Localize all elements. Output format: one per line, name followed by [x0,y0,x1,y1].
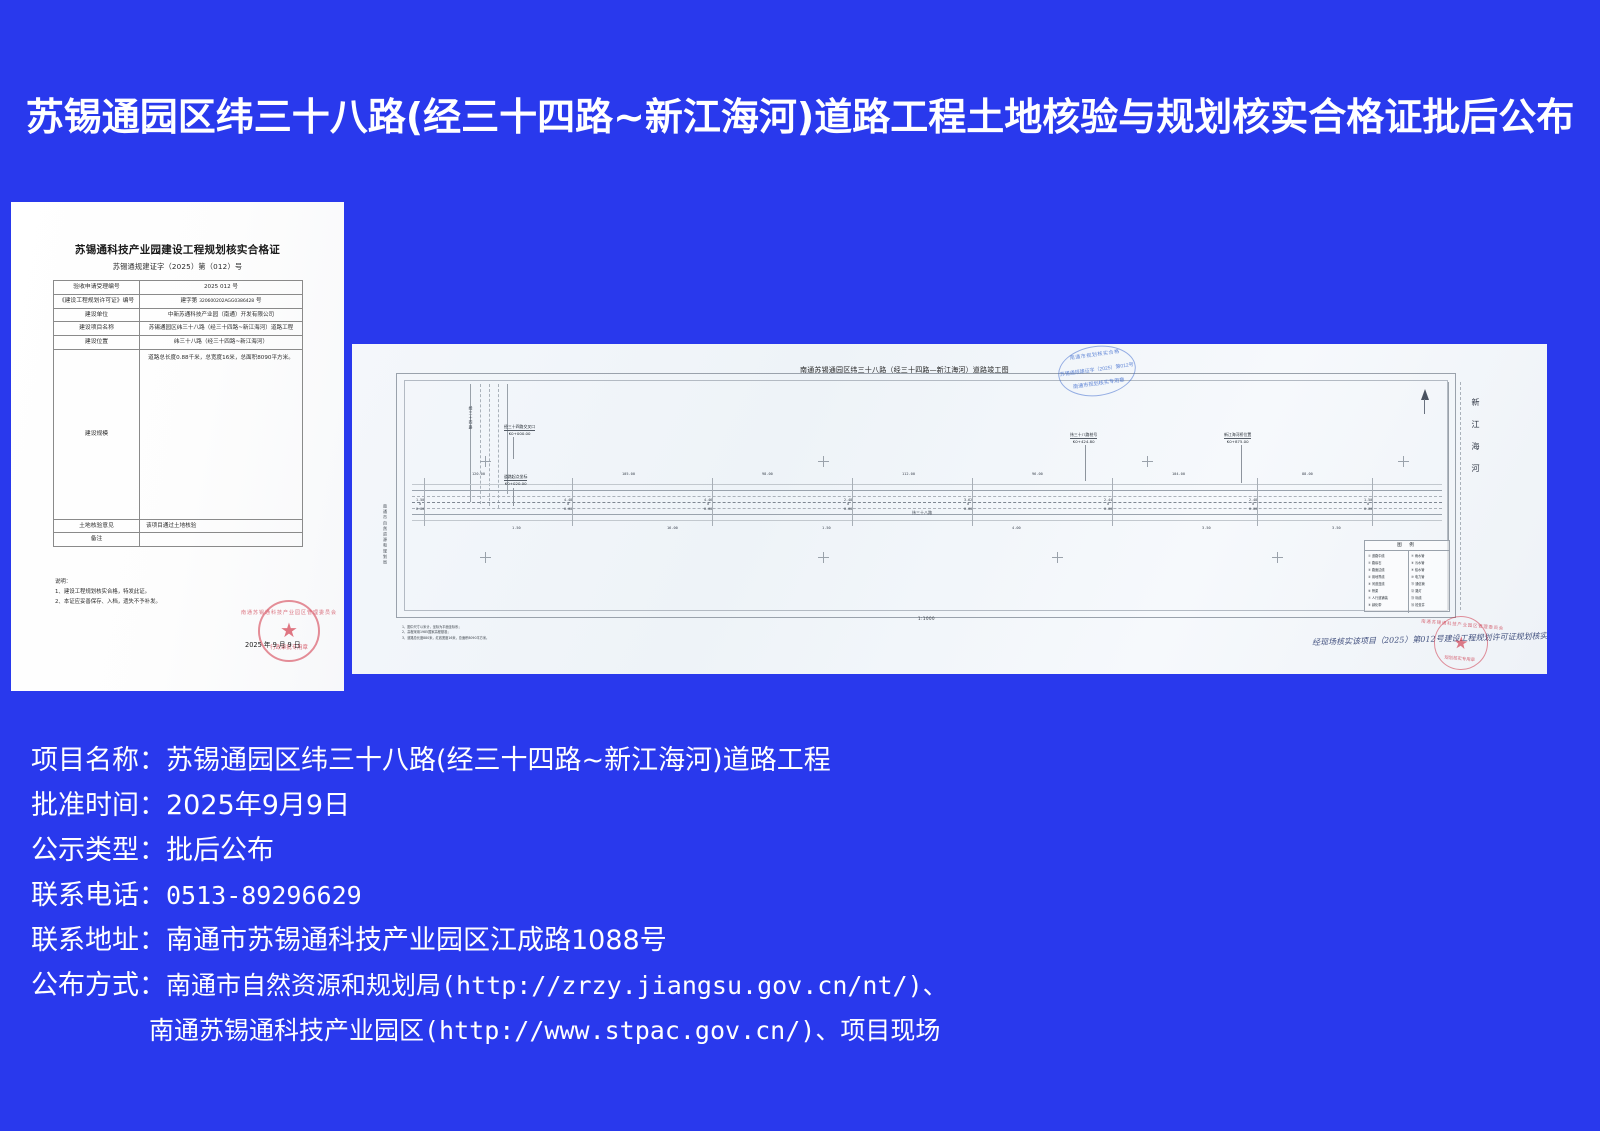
row-value-construction-unit: 中新苏通科技产业园（南通）开发有限公司 [140,308,303,322]
station-bot: 0.00 [1364,507,1372,511]
legend-row: ⑥ 桥梁 [1368,588,1378,593]
row-label-project-name: 建设项目名称 [54,322,140,336]
row-value-land-opinion: 该项目通过土地核验 [140,519,303,533]
road-boundary-bottom [412,520,1442,521]
legend-symbol: ① [1368,554,1371,558]
handwritten-approval-note: 经现场核实该项目（2025）第012号建设工程规划许可证规划核实合格。 [1312,631,1527,648]
legend-row: ⑨ 给水管 [1411,567,1424,572]
legend-row: ⑧ 绿化带 [1368,602,1381,607]
legend-symbol: ⑪ [1411,582,1414,586]
dimension-label: 104.00 [1172,472,1185,476]
certificate-page: 苏锡通科技产业园建设工程规划核实合格证 苏锡通规建证字（2025）第（012）号… [11,202,344,691]
legend-symbol: ⑨ [1411,568,1414,572]
road-edge-top [412,490,1442,491]
station-bot: 0.00 [564,507,572,511]
survey-cross-mark [480,456,491,467]
info-value: 苏锡通园区纬三十八路(经三十四路~新江海河)道路工程 [166,745,831,776]
legend-name: 道路中线 [1372,554,1385,558]
dimension-label: 88.00 [1302,472,1313,476]
row-label-remark: 备注 [54,533,140,547]
legend-row: ⑩ 电力管 [1411,574,1424,579]
legend-symbol: ⑤ [1368,582,1371,586]
survey-cross-mark [818,552,829,563]
row-label-scale: 建设规模 [54,349,140,519]
dimension-label: 96.00 [1032,472,1043,476]
station-label: 4.46 0 0.00 [704,498,712,511]
legend-row: ⑧ 污水管 [1411,560,1424,565]
dimension-label: 3.50 [1202,526,1211,530]
station-label: 1.50 0 0.00 [1364,498,1372,511]
legend-name: 通信管 [1415,582,1425,586]
info-value: 南通市苏锡通科技产业园区江成路1088号 [166,925,667,956]
info-value: 2025年9月9日 [166,790,350,821]
road-boundary-top [412,484,1442,485]
publish-line-1: 南通市自然资源和规划局(http://zrzy.jiangsu.gov.cn/n… [166,971,948,1000]
info-label: 批准时间： [31,790,166,821]
row-label-location: 建设位置 [54,335,140,349]
info-row-project-name: 项目名称：苏锡通园区纬三十八路(经三十四路~新江海河)道路工程 [31,738,1571,783]
row-label-land-opinion: 土地核验意见 [54,519,140,533]
row-value-permit-number: 建字第 320600202AGG0386428 号 [140,294,303,308]
legend-row: ⑦ 人行道铺装 [1368,595,1388,600]
legend-box: 图 例 ① 道路中线 ⑦ 雨水管 ② 路缘石 ⑧ 污水管 ③ 路面边线 ⑨ 给水… [1364,540,1450,612]
legend-row: ⑤ 河道蓝线 [1368,581,1385,586]
table-row: 《建设工程规划许可证》编号 建字第 320600202AGG0386428 号 [54,294,303,308]
info-label: 项目名称： [31,745,166,776]
callout-title: 纬三十八路桩号 [1070,432,1097,439]
callout-value: K0+000.00 [509,431,531,436]
legend-symbol: ⑬ [1411,596,1414,600]
official-red-seal: 南通苏锡通科技产业园区管理委员会 ★ 行政审批专用章 [258,600,320,662]
blue-seal-line1: 南通市规划核实合格 [1057,346,1133,364]
station-bot: 0.00 [1104,507,1112,511]
legend-name: 人行道铺装 [1372,596,1388,600]
station-bot: 0.00 [964,507,972,511]
row-value-scale: 道路总长度0.88千米，总宽度16米，总面积8090平方米。 [140,349,303,519]
info-row-address: 联系地址：南通市苏锡通科技产业园区江成路1088号 [31,918,1571,963]
info-label: 联系地址： [31,925,166,956]
drawing-notes: 1、图中尺寸以米计，坐标为平面坐标系； 2、高程采用1985国家高程基准； 3、… [402,625,632,641]
project-info-block: 项目名称：苏锡通园区纬三十八路(经三十四路~新江海河)道路工程 批准时间：202… [31,738,1571,1053]
legend-name: 桥梁 [1372,589,1378,593]
station-label: 1.50 0 0.00 [416,498,424,511]
star-icon: ★ [280,621,298,641]
north-arrow-stem [1424,399,1425,414]
river-bank-line-2 [1460,382,1461,610]
certificate-scan-image: 苏锡通科技产业园建设工程规划核实合格证 苏锡通规建证字（2025）第（012）号… [11,202,344,691]
info-label: 公示类型： [31,835,166,866]
callout-value: K0+020.00 [505,481,527,486]
certificate-table: 验收申请受理编号 2025 012 号 《建设工程规划许可证》编号 建字第 32… [53,280,303,547]
survey-cross-mark [480,552,491,563]
info-row-publish-method: 公布方式：南通市自然资源和规划局(http://zrzy.jiangsu.gov… [31,963,1571,1053]
legend-name: 路面边线 [1372,568,1385,572]
legend-name: 电力管 [1415,575,1425,579]
table-row: 建设位置 纬三十八路（经三十四路~新江海河） [54,335,303,349]
legend-name: 给水管 [1415,568,1425,572]
star-icon: ★ [1453,634,1470,652]
callout-value: K0+424.80 [1073,439,1095,444]
survey-cross-mark [1052,552,1063,563]
legend-name: 污水管 [1415,561,1425,565]
legend-column-divider [1408,550,1409,613]
info-row-phone: 联系电话：0513-89296629 [31,873,1571,918]
legend-symbol: ③ [1368,568,1371,572]
row-label-permit-number: 《建设工程规划许可证》编号 [54,294,140,308]
row-value-remark [140,533,303,547]
callout-4: 新江海河桥位置 K0+875.00 [1224,432,1251,445]
info-value: 0513-89296629 [166,881,362,910]
station-bot: 0.00 [844,507,852,511]
legend-symbol: ② [1368,561,1371,565]
station-label: 3.62 0 0.00 [964,498,972,511]
legend-symbol: ⑦ [1368,596,1371,600]
legend-row: ⑦ 雨水管 [1411,553,1424,558]
permit-suffix: 号 [256,298,262,304]
legend-symbol: ⑭ [1411,603,1414,607]
certificate-serial-number: 苏锡通规建证字（2025）第（012）号 [11,262,344,272]
dimension-label: 120.00 [472,472,485,476]
seal-arc-text: 南通苏锡通科技产业园区管理委员会 [1421,618,1504,631]
station-bot: 0.00 [416,507,424,511]
row-value-project-name: 苏锡通园区纬三十八路（经三十四路~新江海河）道路工程 [140,322,303,336]
drawing-note-3: 3、道路总长度880米，红线宽度16米，总面积8090平方米。 [402,636,632,641]
legend-symbol: ⑧ [1411,561,1414,565]
callout-leader [1241,445,1242,483]
legend-title: 图 例 [1365,542,1449,548]
road-corridor: 1.50 0 0.00 4.48 0 0.00 4.46 0 0.00 2.48… [412,484,1442,520]
left-vertical-agency-text: 南通市自然资源和规划局 [382,504,388,566]
row-value-location: 纬三十八路（经三十四路~新江海河） [140,335,303,349]
certificate-title: 苏锡通科技产业园建设工程规划核实合格证 [11,242,344,257]
legend-symbol: ⑧ [1368,603,1371,607]
row-label-accept-number: 验收申请受理编号 [54,281,140,295]
table-row: 验收申请受理编号 2025 012 号 [54,281,303,295]
dimension-label: 16.00 [667,526,678,530]
row-label-construction-unit: 建设单位 [54,308,140,322]
legend-name: 用地界线 [1372,575,1385,579]
dimension-label: 1.50 [822,526,831,530]
seal-arc-text: 南通苏锡通科技产业园区管理委员会 [241,609,337,616]
table-row: 建设单位 中新苏通科技产业园（南通）开发有限公司 [54,308,303,322]
river-label: 新江海河 [1470,398,1481,486]
certificate-date: 2025 年 9 月 9 日 [245,639,300,649]
certificate-notes: 说明： 1、建设工程规划核实合格，特发此证。 2、本证应妥善保存、入档，遗失不予… [55,577,305,607]
legend-row: ④ 用地界线 [1368,574,1385,579]
legend-name: 标线 [1415,596,1421,600]
info-label: 联系电话： [31,880,166,911]
note-item-1: 1、建设工程规划核实合格，特发此证。 [55,587,305,597]
publish-line-2: 南通苏锡通科技产业园区(http://www.stpac.gov.cn/)、项目… [31,1008,1571,1053]
callout-value: K0+875.00 [1227,439,1249,444]
legend-name: 路缘石 [1372,561,1382,565]
permit-prefix: 建字第 [180,298,197,304]
legend-name: 路灯 [1415,589,1421,593]
legend-divider [1365,550,1449,551]
permit-number: 320600202AGG0386428 [199,299,254,304]
info-row-publicity-type: 公示类型：批后公布 [31,828,1571,873]
legend-symbol: ⑫ [1411,589,1414,593]
callout-title: 新江海河桥位置 [1224,432,1251,439]
dimension-label: 4.00 [1012,526,1021,530]
callout-leader [1085,445,1086,481]
road-name-inline-label: 纬三十八路 [912,510,932,516]
legend-symbol: ⑩ [1411,575,1414,579]
table-row: 建设规模 道路总长度0.88千米，总宽度16米，总面积8090平方米。 [54,349,303,519]
legend-symbol: ⑥ [1368,589,1371,593]
legend-row: ⑬ 标线 [1411,595,1422,600]
page-title: 苏锡通园区纬三十八路(经三十四路~新江海河)道路工程土地核验与规划核实合格证批后… [0,86,1600,141]
callout-title: 道路起点坐标 [504,474,527,481]
note-item-2: 2、本证应妥善保存、入档，遗失不予补发。 [55,597,305,607]
legend-symbol: ④ [1368,575,1371,579]
survey-cross-mark [818,456,829,467]
station-label: 2.44 0 0.00 [1104,498,1112,511]
callout-2: 道路起点坐标 K0+020.00 [504,474,527,487]
table-row: 备注 [54,533,303,547]
callout-title: 经三十四路交叉口 [504,424,535,431]
legend-name: 雨水管 [1415,554,1425,558]
station-bot: 0.00 [704,507,712,511]
road-lane-top [412,496,1442,497]
station-label: 2.48 0 0.00 [1249,498,1257,511]
notes-title: 说明： [55,577,305,587]
legend-row: ⑭ 检查井 [1411,602,1425,607]
info-label: 公布方式： [31,970,166,1001]
callout-1: 经三十四路交叉口 K0+000.00 [504,424,535,437]
station-label: 2.48 0 0.00 [844,498,852,511]
callout-leader [513,488,514,506]
drawing-red-seal: 南通苏锡通科技产业园区管理委员会 ★ 规划核实专用章 [1432,614,1491,673]
survey-cross-mark [1142,456,1153,467]
dimension-label: 105.00 [622,472,635,476]
callout-3: 纬三十八路桩号 K0+424.80 [1070,432,1097,445]
legend-name: 河道蓝线 [1372,582,1385,586]
survey-cross-mark [1272,552,1283,563]
legend-name: 绿化带 [1372,603,1382,607]
legend-row: ⑪ 通信管 [1411,581,1425,586]
legend-row: ② 路缘石 [1368,560,1381,565]
legend-row: ① 道路中线 [1368,553,1385,558]
legend-symbol: ⑦ [1411,554,1414,558]
legend-row: ③ 路面边线 [1368,567,1385,572]
dimension-label: 112.00 [902,472,915,476]
seal-bottom-text: 规划核实专用章 [1444,655,1475,664]
dimension-label: 3.50 [1332,526,1341,530]
row-value-accept-number: 2025 012 号 [140,281,303,295]
dimension-label: 1.50 [512,526,521,530]
vertical-road-label: 经三十四路 [469,406,474,430]
station-label: 4.48 0 0.00 [564,498,572,511]
drawing-scale-label: 1:1000 [918,616,935,621]
info-row-approval-date: 批准时间：2025年9月9日 [31,783,1571,828]
table-row: 土地核验意见 该项目通过土地核验 [54,519,303,533]
station-bot: 0.00 [1249,507,1257,511]
dimension-label: 98.00 [762,472,773,476]
legend-name: 检查井 [1415,603,1425,607]
survey-cross-mark [1398,456,1409,467]
legend-row: ⑫ 路灯 [1411,588,1422,593]
engineering-drawing-scan-image: 南通苏锡通园区纬三十八路（经三十四路—新江海河）道路竣工图 南通市规划核实合格 … [352,344,1547,674]
table-row: 建设项目名称 苏锡通园区纬三十八路（经三十四路~新江海河）道路工程 [54,322,303,336]
callout-leader [513,437,514,459]
drawing-title: 南通苏锡通园区纬三十八路（经三十四路—新江海河）道路竣工图 [800,365,1009,375]
info-value: 批后公布 [166,835,274,866]
north-arrow-icon [1418,389,1432,415]
